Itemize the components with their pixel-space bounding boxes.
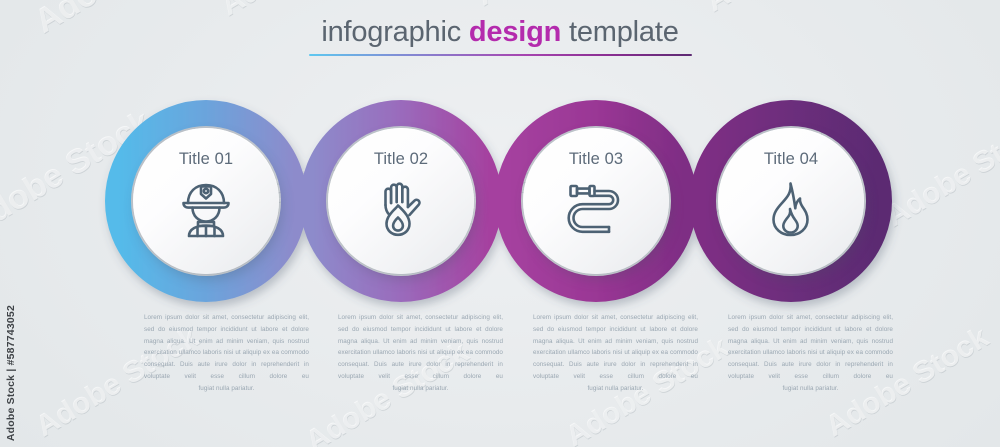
watermark-text: Adobe Stock	[470, 0, 645, 13]
step-description-body: Lorem ipsum dolor sit amet, consectetur …	[533, 312, 698, 383]
step-description-tail: fugiat nulla pariatur.	[533, 383, 698, 395]
step-description-1: Lorem ipsum dolor sit amet, consectetur …	[144, 312, 309, 395]
step-description-tail: fugiat nulla pariatur.	[144, 383, 309, 395]
step-description-body: Lorem ipsum dolor sit amet, consectetur …	[728, 312, 893, 383]
flame-icon	[760, 176, 822, 242]
step-node-3[interactable]: Title 03	[523, 128, 669, 274]
stock-credit-label: Adobe Stock | #587743052	[5, 305, 17, 441]
fire-hose-icon	[565, 176, 627, 242]
stock-credit: Adobe Stock | #587743052	[2, 241, 20, 441]
page-title: infographic design template	[0, 18, 1000, 56]
step-description-3: Lorem ipsum dolor sit amet, consectetur …	[533, 312, 698, 395]
page-title-part1: infographic	[321, 16, 469, 48]
step-description-body: Lorem ipsum dolor sit amet, consectetur …	[338, 312, 503, 383]
page-title-text: infographic design template	[0, 18, 1000, 47]
page-title-accent: design	[469, 16, 561, 48]
step-node-1[interactable]: Title 01	[133, 128, 279, 274]
title-underline-rule	[309, 54, 692, 56]
hand-flame-icon	[370, 176, 432, 242]
step-description-tail: fugiat nulla pariatur.	[338, 383, 503, 395]
step-description-2: Lorem ipsum dolor sit amet, consectetur …	[338, 312, 503, 395]
step-title-1: Title 01	[133, 150, 279, 169]
step-description-4: Lorem ipsum dolor sit amet, consectetur …	[728, 312, 893, 395]
step-description-body: Lorem ipsum dolor sit amet, consectetur …	[144, 312, 309, 383]
step-title-4: Title 04	[718, 150, 864, 169]
step-node-4[interactable]: Title 04	[718, 128, 864, 274]
infographic-canvas: Adobe Stock Adobe Stock Adobe Stock Adob…	[0, 0, 1000, 447]
firefighter-icon	[175, 176, 237, 242]
step-title-3: Title 03	[523, 150, 669, 169]
step-title-2: Title 02	[328, 150, 474, 169]
page-title-part2: template	[561, 16, 679, 48]
step-node-2[interactable]: Title 02	[328, 128, 474, 274]
step-description-tail: fugiat nulla pariatur.	[728, 383, 893, 395]
watermark-text: Adobe Stock	[880, 111, 1000, 235]
watermark-text: Adobe Stock	[700, 0, 875, 19]
